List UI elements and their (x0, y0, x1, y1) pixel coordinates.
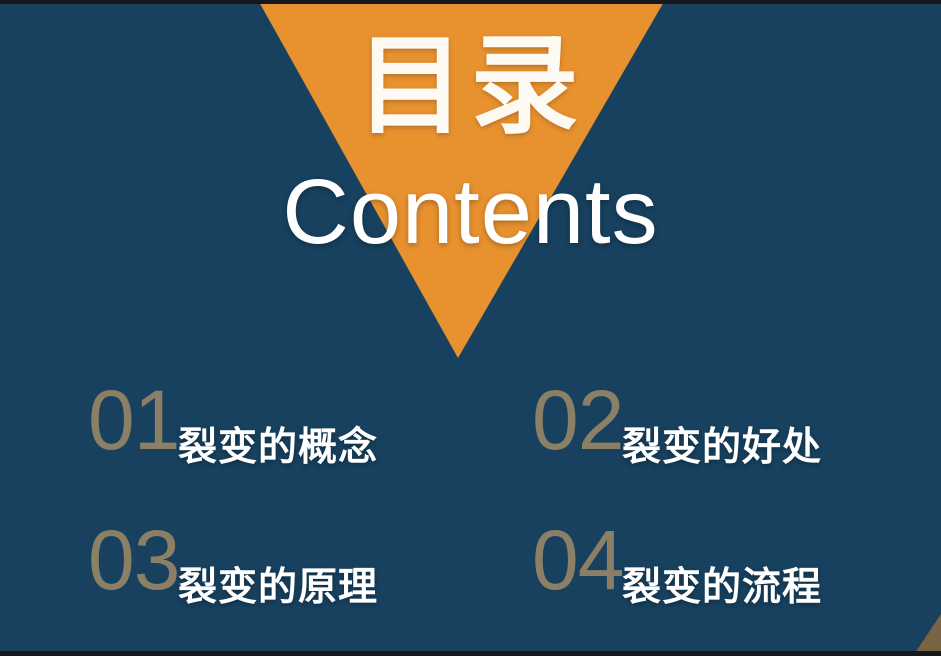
contents-item-02[interactable]: 02 裂变的好处 (532, 378, 932, 496)
top-letterbox-bar (0, 0, 941, 4)
presentation-slide: 目录 Contents 01 裂变的概念 02 裂变的好处 03 裂变的原理 0… (0, 0, 941, 656)
contents-item-number: 03 (88, 518, 179, 602)
contents-item-number: 02 (532, 378, 623, 462)
contents-item-number: 01 (88, 378, 179, 462)
contents-item-label: 裂变的概念 (178, 428, 378, 467)
contents-item-label: 裂变的原理 (178, 568, 378, 607)
contents-item-label: 裂变的好处 (622, 428, 822, 467)
contents-item-01[interactable]: 01 裂变的概念 (88, 378, 488, 496)
contents-list: 01 裂变的概念 02 裂变的好处 03 裂变的原理 04 裂变的流程 (0, 378, 941, 638)
contents-item-label: 裂变的流程 (622, 568, 822, 607)
page-title-english: Contents (0, 166, 941, 258)
bottom-letterbox-bar (0, 651, 941, 656)
contents-item-number: 04 (532, 518, 623, 602)
page-title-chinese: 目录 (0, 26, 941, 147)
contents-item-03[interactable]: 03 裂变的原理 (88, 518, 488, 636)
contents-item-04[interactable]: 04 裂变的流程 (532, 518, 932, 636)
